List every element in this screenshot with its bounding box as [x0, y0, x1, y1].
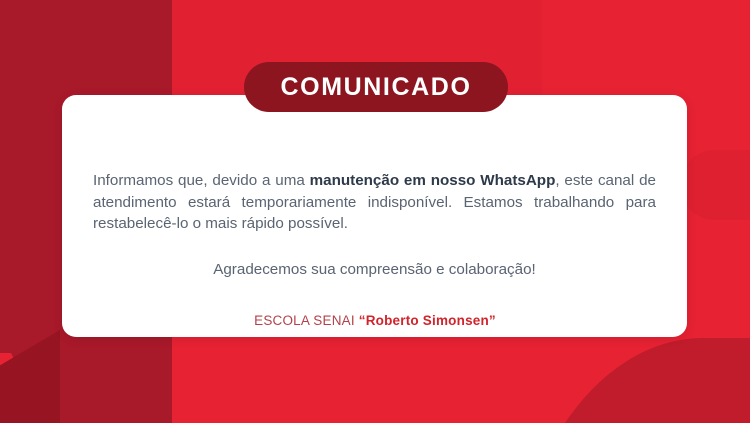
announcement-poster: COMUNICADO Informamos que, devido a uma … — [0, 0, 750, 423]
communicado-badge: COMUNICADO — [244, 62, 508, 112]
background-right-notch-shape — [680, 150, 750, 220]
paragraph-bold-highlight: manutenção em nosso WhatsApp — [310, 172, 556, 189]
footer-signature: ESCOLA SENAI “Roberto Simonsen” — [0, 313, 750, 328]
paragraph-prefix: Informamos que, devido a uma — [93, 172, 310, 189]
card-body: Informamos que, devido a uma manutenção … — [93, 170, 656, 280]
thanks-line: Agradecemos sua compreensão e colaboraçã… — [93, 235, 656, 281]
badge-label: COMUNICADO — [281, 73, 472, 102]
footer-school-label: ESCOLA SENAI — [254, 313, 359, 328]
background-right-curve-shape — [505, 338, 750, 423]
announcement-paragraph: Informamos que, devido a uma manutenção … — [93, 170, 656, 235]
footer-school-name: “Roberto Simonsen” — [359, 313, 496, 328]
